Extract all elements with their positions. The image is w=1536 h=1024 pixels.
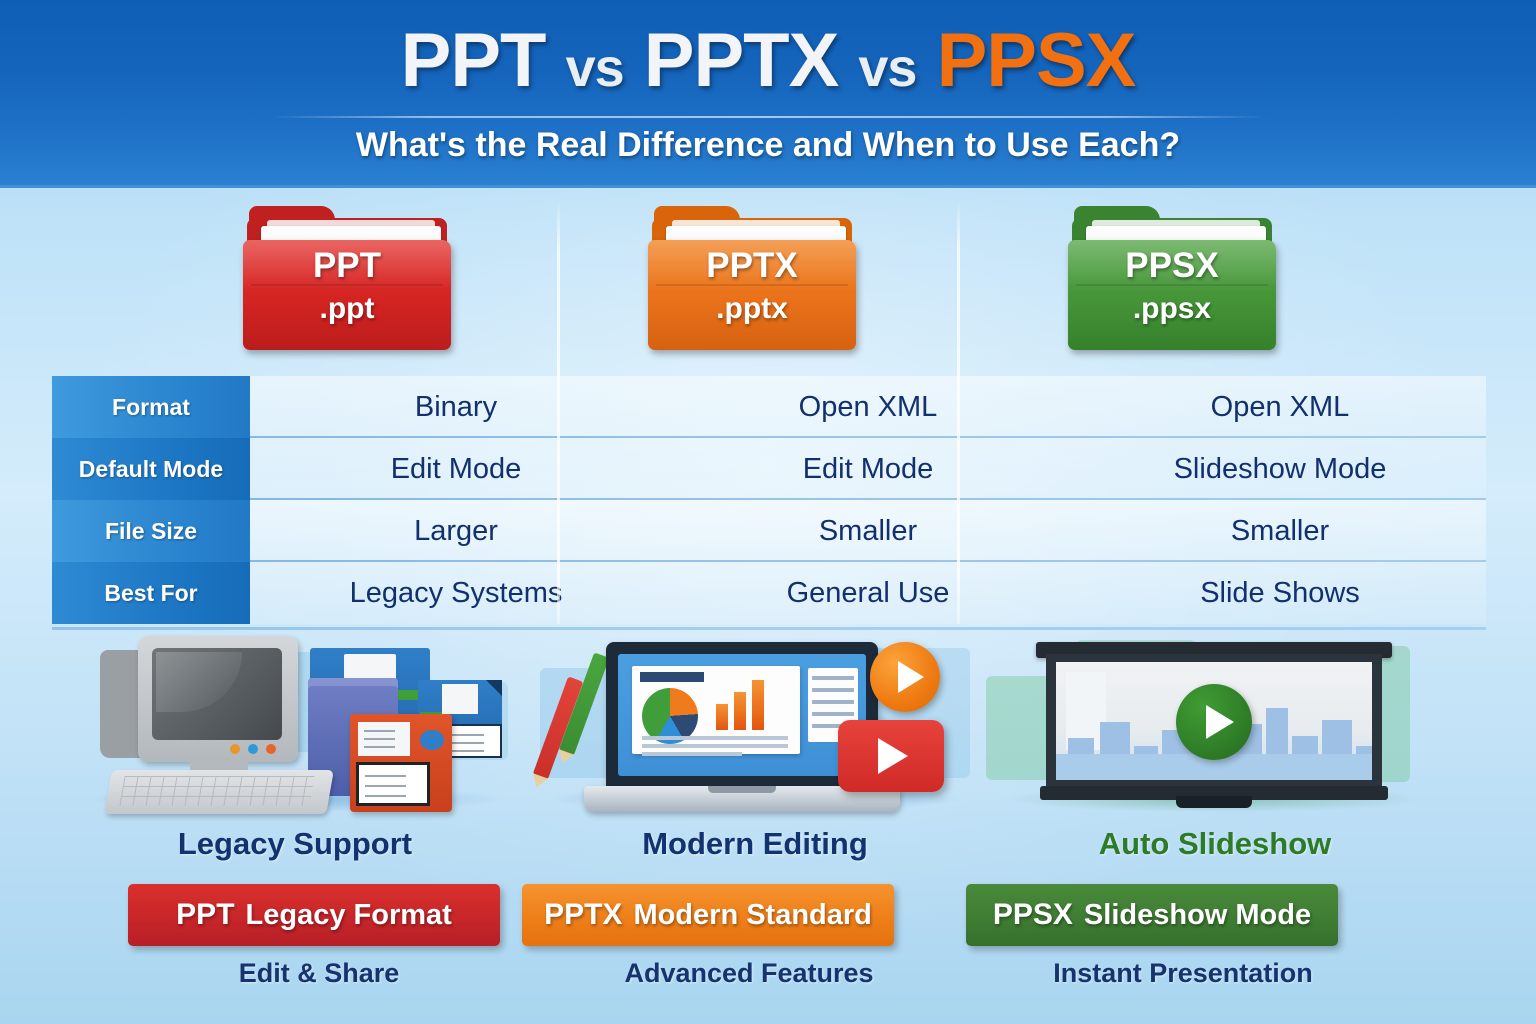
doc-line (364, 730, 395, 732)
folder-icon-pptx: PPTX .pptx (648, 206, 860, 352)
badge-ppsx[interactable]: PPSX Slideshow Mode (966, 884, 1338, 946)
title-separator-vs-2: vs (858, 38, 916, 98)
doc-line (364, 746, 395, 748)
infographic-canvas: PPT vs PPTX vs PPSX What's the Real Diff… (0, 0, 1536, 1024)
header-band: PPT vs PPTX vs PPSX What's the Real Diff… (0, 0, 1536, 188)
badge-tag: PPSX (993, 898, 1073, 932)
folder-front: PPT .ppt (243, 240, 451, 350)
floppy-label (442, 684, 478, 714)
illustration-legacy-support (60, 628, 530, 818)
page-subtitle: What's the Real Difference and When to U… (0, 126, 1536, 165)
title-part-ppsx: PPSX (937, 18, 1136, 103)
folder-icon-ppt: PPT .ppt (243, 206, 455, 352)
table-cell: Open XML (662, 376, 1074, 438)
play-triangle (878, 738, 908, 774)
row-label: File Size (52, 500, 250, 562)
slide-text-line (642, 752, 742, 756)
row-cells: Larger Smaller Smaller (250, 500, 1486, 562)
table-cell: Legacy Systems (250, 562, 662, 624)
play-triangle (1206, 705, 1234, 739)
folder-front: PPSX .ppsx (1068, 240, 1276, 350)
document-icon (444, 724, 502, 758)
badge-sublabel-ppt: Edit & Share (84, 958, 554, 989)
folder-extension-label: .pptx (648, 292, 856, 326)
presentation-slide (632, 666, 800, 754)
status-led (230, 744, 240, 754)
slide-title-bar (640, 672, 704, 682)
column-divider (557, 200, 560, 624)
doc-line (452, 742, 484, 744)
table-row: Best For Legacy Systems General Use Slid… (52, 562, 1486, 624)
table-cell: Binary (250, 376, 662, 438)
slide-text-line (642, 744, 788, 748)
table-cell: Open XML (1074, 376, 1486, 438)
folder-extension-label: .ppt (243, 292, 451, 326)
doc-line (364, 738, 395, 740)
floppy-corner (486, 680, 502, 696)
list-line (812, 712, 854, 716)
comparison-table: Format Binary Open XML Open XML Default … (52, 376, 1486, 624)
doc-line (452, 750, 484, 752)
list-line (812, 688, 854, 692)
projector-screen-foot (1176, 796, 1252, 808)
format-card-ppt: PPT .ppt (215, 206, 483, 366)
badge-label: Legacy Format (246, 899, 452, 932)
column-divider (957, 200, 960, 624)
doc-line (365, 795, 406, 797)
table-cell: Slideshow Mode (1074, 438, 1486, 500)
title-part-pptx: PPTX (644, 18, 839, 103)
table-cell: Larger (250, 500, 662, 562)
format-card-pptx: PPTX .pptx (620, 206, 888, 366)
folder-icon-ppsx: PPSX .ppsx (1068, 206, 1280, 352)
format-card-ppsx: PPSX .ppsx (1040, 206, 1308, 366)
table-cell: Edit Mode (662, 438, 1074, 500)
bar-chart-bar (716, 704, 728, 730)
table-row: Default Mode Edit Mode Edit Mode Slidesh… (52, 438, 1486, 500)
table-cell: Slide Shows (1074, 562, 1486, 624)
folder-name-label: PPSX (1068, 246, 1276, 286)
title-divider (272, 116, 1264, 118)
badge-sublabel-ppsx: Instant Presentation (948, 958, 1418, 989)
title-part-ppt: PPT (401, 18, 546, 103)
badge-sublabel-pptx: Advanced Features (514, 958, 984, 989)
row-cells: Legacy Systems General Use Slide Shows (250, 562, 1486, 624)
folder-front: PPTX .pptx (648, 240, 856, 350)
document-icon (356, 762, 430, 806)
keyboard-keys (119, 776, 314, 806)
floppy-label (358, 722, 410, 756)
table-cell: Smaller (1074, 500, 1486, 562)
list-line (812, 700, 854, 704)
illustration-caption-slideshow: Auto Slideshow (980, 826, 1450, 862)
doc-line (365, 785, 406, 787)
table-cell: Smaller (662, 500, 1074, 562)
play-button-orange-icon (870, 642, 940, 712)
doc-line (452, 734, 484, 736)
bar-chart-bar (734, 692, 746, 730)
floppy-disk-red-icon (350, 714, 452, 812)
badge-pptx[interactable]: PPTX Modern Standard (522, 884, 894, 946)
row-label: Default Mode (52, 438, 250, 500)
illustration-auto-slideshow (980, 628, 1450, 818)
badge-ppt[interactable]: PPT Legacy Format (128, 884, 500, 946)
folder-name-label: PPTX (648, 246, 856, 286)
page-title: PPT vs PPTX vs PPSX (0, 18, 1536, 111)
badge-label: Slideshow Mode (1084, 899, 1311, 932)
floppy-hub (420, 730, 444, 750)
table-row: File Size Larger Smaller Smaller (52, 500, 1486, 562)
illustration-caption-modern: Modern Editing (520, 826, 990, 862)
table-cell: Edit Mode (250, 438, 662, 500)
folder-extension-label: .ppsx (1068, 292, 1276, 326)
row-label: Best For (52, 562, 250, 624)
play-button-red-icon (838, 720, 944, 792)
title-separator-vs-1: vs (566, 38, 624, 98)
row-label: Format (52, 376, 250, 438)
list-line (812, 676, 854, 680)
row-cells: Edit Mode Edit Mode Slideshow Mode (250, 438, 1486, 500)
table-row: Format Binary Open XML Open XML (52, 376, 1486, 438)
folder-name-label: PPT (243, 246, 451, 286)
illustration-modern-editing (520, 628, 990, 818)
table-cell: General Use (662, 562, 1074, 624)
badge-tag: PPT (176, 898, 234, 932)
bar-chart-bar (752, 680, 764, 730)
status-led (266, 744, 276, 754)
doc-line (365, 775, 406, 777)
badge-label: Modern Standard (633, 899, 871, 932)
play-triangle (898, 661, 924, 693)
slide-text-line (642, 736, 788, 740)
laptop-trackpad-notch (708, 786, 776, 793)
play-button-green-icon (1176, 684, 1252, 760)
illustration-caption-legacy: Legacy Support (60, 826, 530, 862)
row-cells: Binary Open XML Open XML (250, 376, 1486, 438)
badge-tag: PPTX (544, 898, 622, 932)
status-led (248, 744, 258, 754)
